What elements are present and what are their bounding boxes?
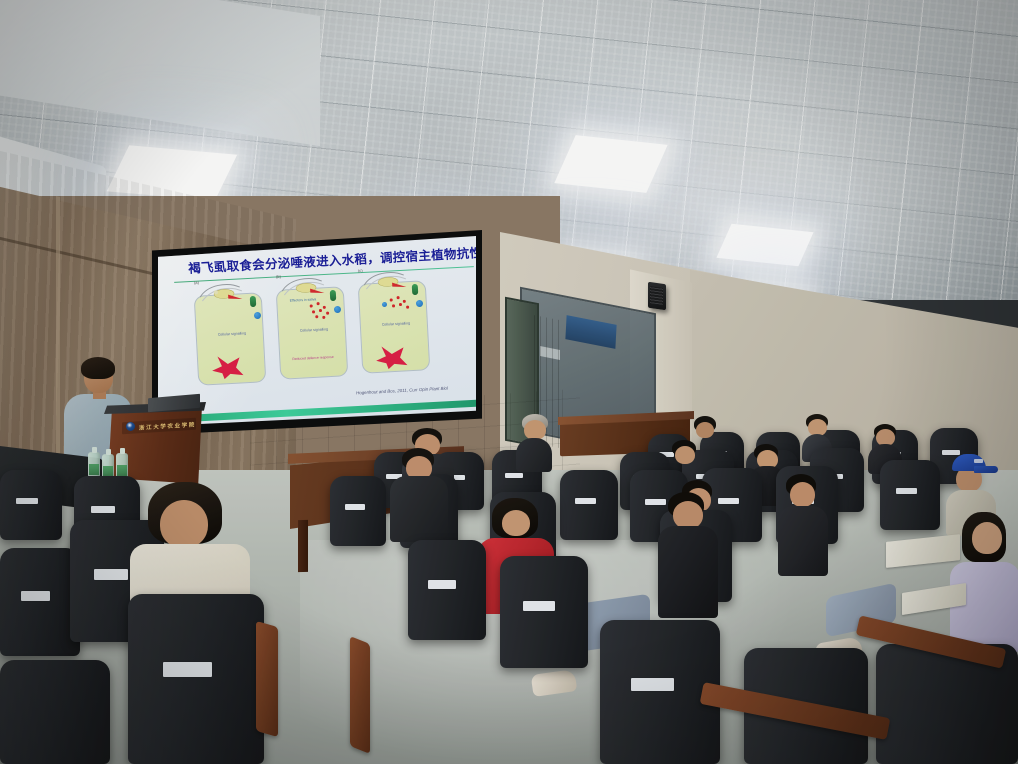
seat-number-tag xyxy=(91,506,115,513)
seat-number-tag xyxy=(718,498,740,505)
seat-number-tag xyxy=(505,473,523,478)
armrest xyxy=(256,621,278,737)
seat[interactable] xyxy=(880,460,940,530)
projection-screen: 褐飞虱取食会分泌唾液进入水稻，调控宿主植物抗性 (a) Cellular sig… xyxy=(158,236,476,426)
seat-number-tag xyxy=(631,678,674,691)
seat[interactable] xyxy=(500,556,588,668)
seat-number-tag xyxy=(16,498,38,504)
seat-number-tag xyxy=(523,601,555,611)
lecture-hall-photo: 褐飞虱取食会分泌唾液进入水稻，调控宿主植物抗性 (a) Cellular sig… xyxy=(0,0,1018,764)
cap-logo xyxy=(974,459,983,463)
armrest xyxy=(350,636,370,754)
seat-number-tag xyxy=(896,488,918,494)
effector-particles xyxy=(388,295,415,314)
front-desk-leg xyxy=(298,520,308,572)
seat-number-tag xyxy=(94,569,128,580)
seat[interactable] xyxy=(0,470,62,540)
organelle-green xyxy=(250,296,257,307)
seat-number-tag xyxy=(575,498,596,504)
organelle-green xyxy=(412,284,419,295)
defence-response-star-c xyxy=(373,343,408,371)
defence-response-star-a xyxy=(209,353,244,381)
seat-number-tag xyxy=(21,591,50,601)
seat[interactable] xyxy=(128,594,264,764)
seat[interactable] xyxy=(0,548,80,656)
wood-panel-seam xyxy=(56,196,60,497)
presenter-hair xyxy=(81,357,115,379)
seat-number-tag xyxy=(428,580,456,589)
insect-illustration-c xyxy=(357,267,414,296)
seat[interactable] xyxy=(0,660,110,764)
seat-number-tag xyxy=(345,504,365,510)
university-seal-icon xyxy=(126,422,135,431)
seat-number-tag xyxy=(942,450,959,455)
insect-illustration-a xyxy=(193,279,250,308)
effector-particles xyxy=(308,301,335,320)
seat[interactable] xyxy=(330,476,386,546)
seat-number-tag xyxy=(645,499,666,505)
seat[interactable] xyxy=(560,470,618,540)
seat[interactable] xyxy=(408,540,486,640)
speaker-grill xyxy=(650,286,663,305)
seat-number-tag xyxy=(163,662,212,677)
cap-brim xyxy=(974,466,998,473)
organelle-green xyxy=(330,290,337,301)
